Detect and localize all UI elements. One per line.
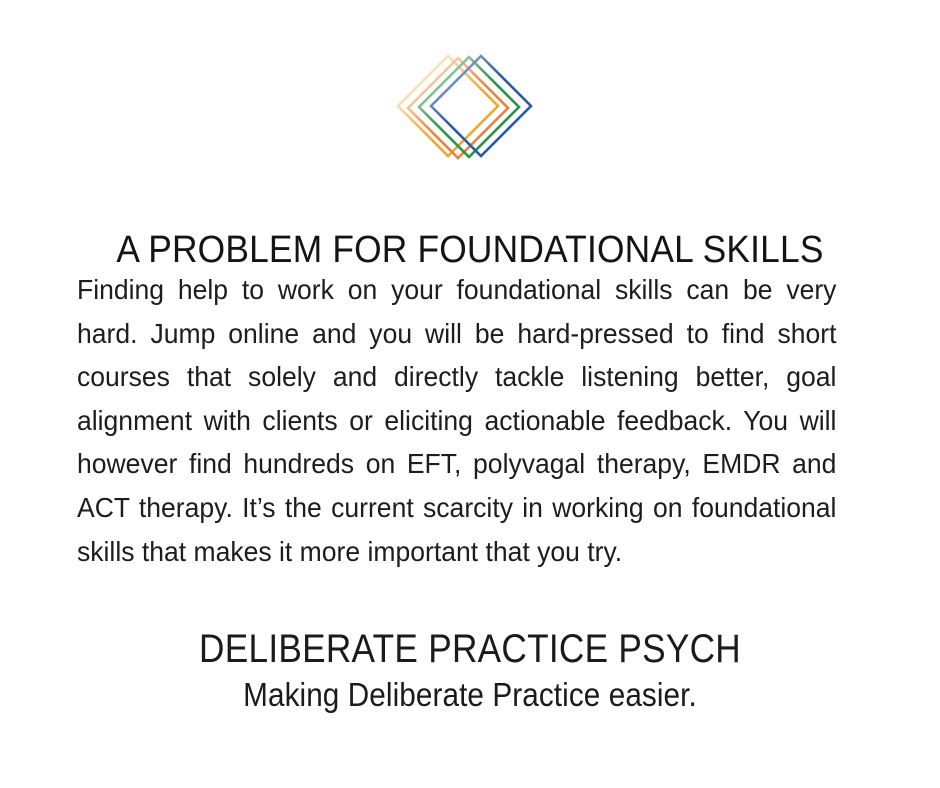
- body-text-block: Finding help to work on your foundationa…: [77, 268, 836, 573]
- logo: [0, 46, 940, 178]
- brand-name: DELIBERATE PRACTICE PSYCH: [56, 626, 883, 672]
- brand-tagline: Making Deliberate Practice easier.: [47, 675, 893, 715]
- page-title: A PROBLEM FOR FOUNDATIONAL SKILLS: [33, 227, 907, 273]
- slide-canvas: A PROBLEM FOR FOUNDATIONAL SKILLS Findin…: [0, 0, 940, 788]
- logo-diamonds-icon: [390, 46, 550, 178]
- body-paragraph: Finding help to work on your foundationa…: [77, 268, 836, 573]
